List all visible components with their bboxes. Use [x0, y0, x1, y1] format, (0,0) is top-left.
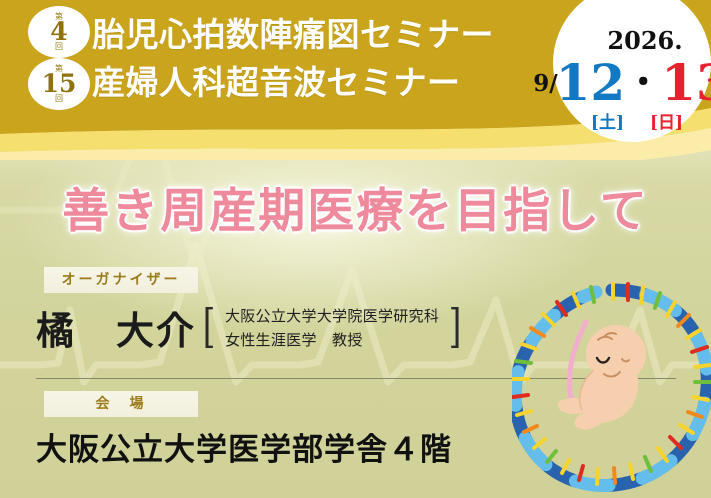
affiliation-line-1: 大阪公立大学大学院医学研究科 [225, 305, 439, 326]
dna-fetus-artwork [512, 282, 711, 498]
page-title: 善き周産期医療を目指して [0, 172, 711, 241]
seminar-poster: 第 4 回 第 15 回 胎児心拍数陣痛図セミナー 産婦人科超音波セミナー 20… [0, 0, 711, 498]
date-weekday-saturday: [土] [591, 108, 624, 133]
organizer-affiliation: [ 大阪公立大学大学院医学研究科 女性生涯医学 教授 ] [200, 305, 464, 350]
affiliation-line-2: 女性生涯医学 教授 [225, 329, 439, 350]
date-weekday-sunday: [日] [650, 108, 683, 133]
badge-number: 15 [42, 72, 77, 96]
date-separator: ・ [626, 66, 660, 100]
seminar-title-line-1: 胎児心拍数陣痛図セミナー [92, 8, 494, 56]
badge-suffix: 回 [55, 43, 63, 51]
bracket-close: ] [449, 305, 462, 350]
venue-label: 会 場 [44, 391, 198, 417]
badge-number: 4 [50, 20, 67, 44]
date-day-1: 12 [556, 58, 626, 108]
date-month: 9/ [533, 70, 557, 97]
date-day-2: 13 [661, 58, 711, 108]
fetus-illustration [558, 322, 646, 430]
date-year: 2026. [553, 26, 711, 55]
date-weekday-group: [土] [日] [553, 108, 711, 133]
date-days-group: 9/ 12 ・ 13 [553, 55, 711, 111]
organizer-name: 橘 大介 [36, 300, 196, 355]
bracket-open: [ [203, 305, 216, 350]
venue-text: 大阪公立大学医学部学舎４階 [36, 424, 452, 469]
badge-session-4: 第 4 回 [28, 6, 90, 58]
badge-suffix: 回 [55, 95, 63, 103]
seminar-title-line-2: 産婦人科超音波セミナー [92, 56, 461, 104]
badge-session-15: 第 15 回 [28, 58, 90, 110]
organizer-label: オーガナイザー [44, 267, 198, 293]
